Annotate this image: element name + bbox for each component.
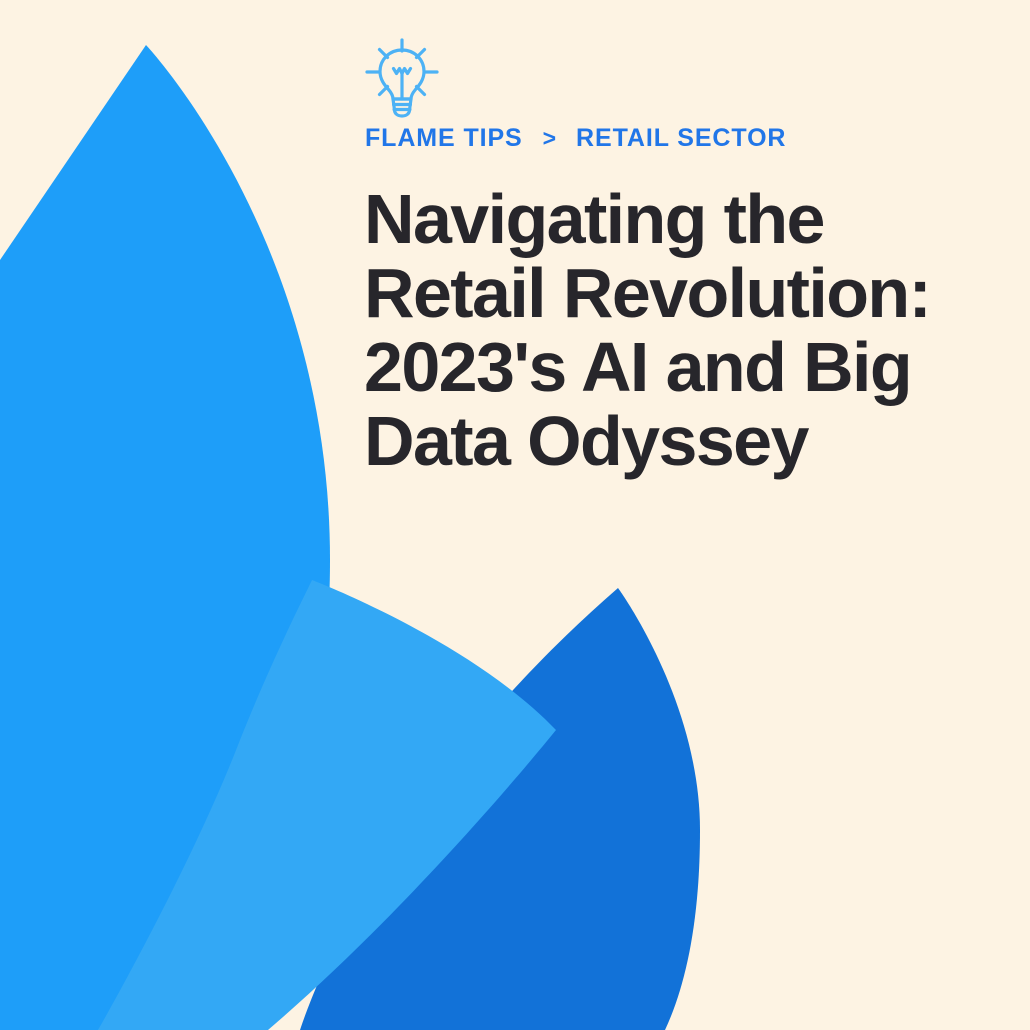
breadcrumb-item-primary[interactable]: FLAME TIPS bbox=[365, 126, 523, 151]
bulb-base bbox=[393, 99, 411, 116]
petal-primary bbox=[0, 45, 330, 1030]
content-column: FLAME TIPS > RETAIL SECTOR Navigating th… bbox=[364, 0, 964, 1030]
title-line-4: Data Odyssey bbox=[364, 404, 944, 478]
breadcrumb-item-secondary[interactable]: RETAIL SECTOR bbox=[576, 126, 786, 151]
social-card: FLAME TIPS > RETAIL SECTOR Navigating th… bbox=[0, 0, 1030, 1030]
breadcrumb: FLAME TIPS > RETAIL SECTOR bbox=[365, 126, 786, 151]
lightbulb-icon bbox=[364, 38, 440, 120]
title-line-1: Navigating the bbox=[364, 182, 944, 256]
title-line-2: Retail Revolution: bbox=[364, 256, 944, 330]
page-title: Navigating the Retail Revolution: 2023's… bbox=[364, 182, 944, 478]
breadcrumb-separator-icon: > bbox=[543, 127, 556, 150]
title-line-3: 2023's AI and Big bbox=[364, 330, 944, 404]
